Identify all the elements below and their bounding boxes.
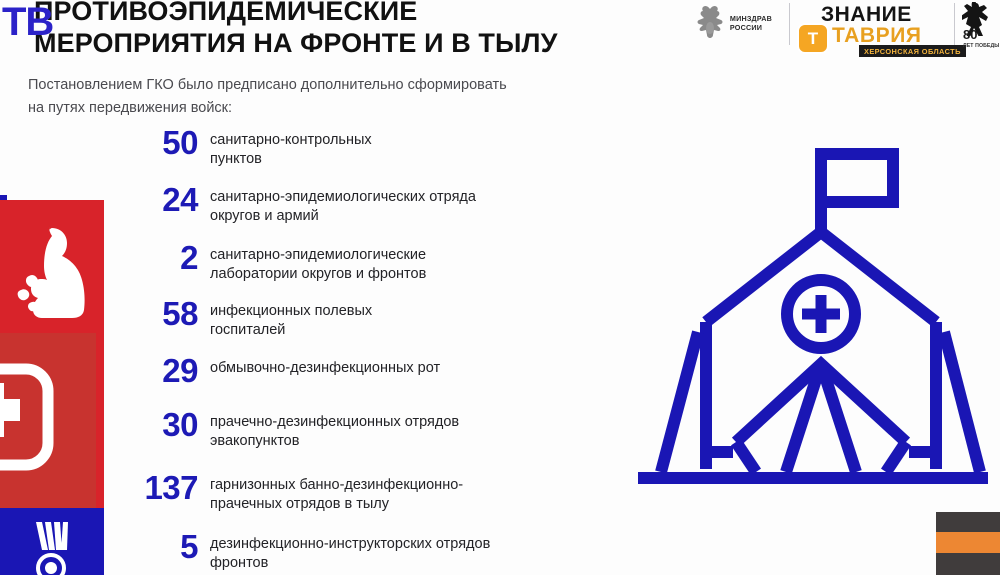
stat-number: 29: [118, 354, 210, 388]
stat-number: 50: [118, 126, 210, 160]
logo-victory-80: 80 ЛЕТ ПОБЕДЫ: [962, 0, 1000, 52]
stat-label-line-1: обмывочно-дезинфекционных рот: [210, 359, 638, 378]
ribbon-stripe-dark-1: [936, 512, 1000, 532]
intro-line-1: Постановлением ГКО было предписано допол…: [28, 74, 628, 97]
stat-label: санитарно-эпидемиологических отряда окру…: [210, 183, 638, 226]
medical-cross-icon: [0, 355, 65, 480]
stat-label-line-1: санитарно-контрольных: [210, 131, 638, 150]
stat-number: 2: [118, 241, 210, 275]
stat-label-line-1: дезинфекционно-инструкторских отрядов: [210, 535, 638, 554]
list-item: 5 дезинфекционно-инструкторских отрядов …: [118, 530, 638, 575]
stat-label: обмывочно-дезинфекционных рот: [210, 354, 638, 378]
double-headed-eagle-icon: [695, 4, 725, 44]
stat-label-line-2: пунктов: [210, 150, 638, 169]
page-title: ПРОТИВОЭПИДЕМИЧЕСКИЕ МЕРОПРИЯТИЯ НА ФРОН…: [34, 0, 674, 59]
list-item: 24 санитарно-эпидемиологических отряда о…: [118, 183, 638, 240]
ribbon-stripe-orange: [936, 532, 1000, 553]
stat-number: 58: [118, 297, 210, 331]
stat-label-line-1: гарнизонных банно-дезинфекционно-: [210, 476, 638, 495]
list-item: 29 обмывочно-дезинфекционных рот: [118, 354, 638, 407]
stat-label-line-1: инфекционных полевых: [210, 302, 638, 321]
tavria-subtitle: ХЕРСОНСКАЯ ОБЛАСТЬ: [859, 45, 966, 57]
stat-label: дезинфекционно-инструкторских отрядов фр…: [210, 530, 638, 573]
list-item: 30 прачечно-дезинфекционных отрядов эвак…: [118, 408, 638, 470]
stat-label: инфекционных полевых госпиталей: [210, 297, 638, 340]
intro-paragraph: Постановлением ГКО было предписано допол…: [28, 74, 628, 121]
stat-label: гарнизонных банно-дезинфекционно- прачеч…: [210, 471, 638, 514]
ribbon-stripe-dark-2: [936, 553, 1000, 575]
page-title-line-2: МЕРОПРИЯТИЯ НА ФРОНТЕ И В ТЫЛУ: [34, 28, 674, 60]
stat-label-line-2: округов и армий: [210, 207, 638, 226]
intro-line-2: на путях передвижения войск:: [28, 97, 628, 120]
stat-label: прачечно-дезинфекционных отрядов эвакопу…: [210, 408, 638, 451]
tv-watermark-logo: ТВ: [2, 2, 53, 42]
statistics-list: 50 санитарно-контрольных пунктов 24 сани…: [118, 126, 638, 575]
minzdrav-label: МИНЗДРАВ РОССИИ: [730, 15, 772, 33]
stat-label-line-2: прачечных отрядов в тылу: [210, 495, 638, 514]
list-item: 137 гарнизонных банно-дезинфекционно- пр…: [118, 471, 638, 529]
stat-number: 137: [118, 471, 210, 505]
logo-divider-2: [954, 3, 955, 45]
slide-root: ТВ ПРОТИВОЭПИДЕМИЧЕСКИЕ МЕРОПРИЯТИЯ НА Ф…: [0, 0, 1000, 575]
logo-divider-1: [789, 3, 790, 45]
logo-znanie-tavria: ЗНАНИЕ Т ТАВРИЯ ХЕРСОНСКАЯ ОБЛАСТЬ: [797, 0, 947, 55]
tavria-badge-letter: Т: [808, 30, 818, 47]
military-medal-icon: [20, 518, 82, 575]
stat-number: 24: [118, 183, 210, 217]
tavria-badge-icon: Т: [797, 23, 829, 54]
victory-subtitle: ЛЕТ ПОБЕДЫ: [963, 43, 999, 49]
page-title-line-1: ПРОТИВОЭПИДЕМИЧЕСКИЕ: [34, 0, 417, 26]
stat-label-line-2: эвакопунктов: [210, 432, 638, 451]
logo-bar: МИНЗДРАВ РОССИИ ЗНАНИЕ Т ТАВРИЯ ХЕРСОНСК…: [695, 0, 1000, 55]
stat-label-line-2: госпиталей: [210, 321, 638, 340]
list-item: 2 санитарно-эпидемиологические лаборатор…: [118, 241, 638, 296]
minzdrav-line-2: РОССИИ: [730, 24, 772, 33]
medical-field-tent-icon: [628, 132, 998, 507]
stat-label-line-2: фронтов: [210, 554, 638, 573]
st-george-ribbon: [936, 512, 1000, 575]
stat-label: санитарно-контрольных пунктов: [210, 126, 638, 169]
stat-number: 5: [118, 530, 210, 564]
logo-minzdrav: МИНЗДРАВ РОССИИ: [695, 0, 782, 44]
stat-label-line-1: санитарно-эпидемиологические: [210, 246, 638, 265]
stat-label-line-2: лаборатории округов и фронтов: [210, 265, 638, 284]
list-item: 58 инфекционных полевых госпиталей: [118, 297, 638, 353]
victory-number: 80: [963, 28, 977, 41]
stat-label-line-1: прачечно-дезинфекционных отрядов: [210, 413, 638, 432]
mourning-figure-icon: [12, 222, 92, 322]
stat-label-line-1: санитарно-эпидемиологических отряда: [210, 188, 638, 207]
list-item: 50 санитарно-контрольных пунктов: [118, 126, 638, 182]
stat-number: 30: [118, 408, 210, 442]
stat-label: санитарно-эпидемиологические лаборатории…: [210, 241, 638, 284]
